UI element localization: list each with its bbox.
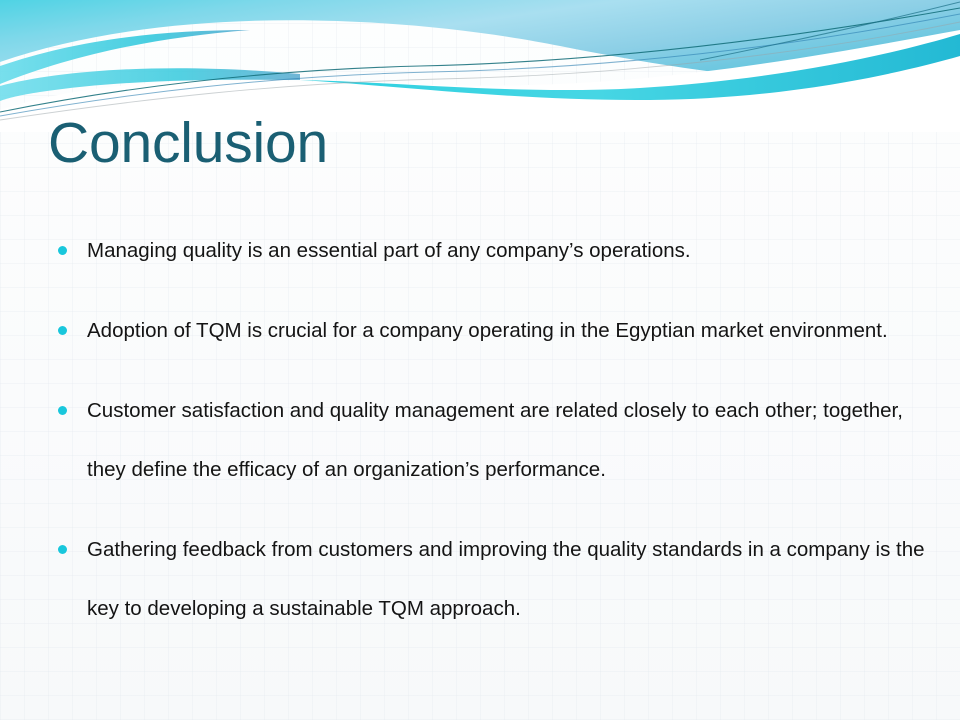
wave-sky-layer [0, 0, 960, 83]
wave-accent-line-teal [0, 8, 960, 112]
title-block: Conclusion [48, 114, 908, 173]
wave-cyan-ribbon [300, 34, 960, 100]
wave-accent-line-teal-right [700, 2, 960, 60]
wave-cyan-ribbon-left [0, 30, 250, 84]
list-item: Customer satisfaction and quality manage… [50, 381, 930, 499]
page-title: Conclusion [48, 114, 908, 173]
list-item-text: Adoption of TQM is crucial for a company… [87, 301, 930, 360]
list-item: Adoption of TQM is crucial for a company… [50, 301, 930, 360]
bullet-dot-icon [58, 545, 67, 554]
list-item: Managing quality is an essential part of… [50, 221, 930, 280]
wave-accent-line-gray [0, 22, 960, 120]
bullet-list: Managing quality is an essential part of… [50, 221, 930, 638]
presentation-slide: Conclusion Managing quality is an essent… [0, 0, 960, 720]
list-item-text: Managing quality is an essential part of… [87, 221, 930, 280]
list-item: Gathering feedback from customers and im… [50, 520, 930, 638]
bullet-dot-icon [58, 326, 67, 335]
bullet-dot-icon [58, 246, 67, 255]
list-item-text: Customer satisfaction and quality manage… [87, 381, 930, 499]
bullet-dot-icon [58, 406, 67, 415]
list-item-text: Gathering feedback from customers and im… [87, 520, 930, 638]
wave-cyan-ribbon-mid [0, 68, 300, 101]
wave-accent-line-blue [0, 14, 960, 116]
